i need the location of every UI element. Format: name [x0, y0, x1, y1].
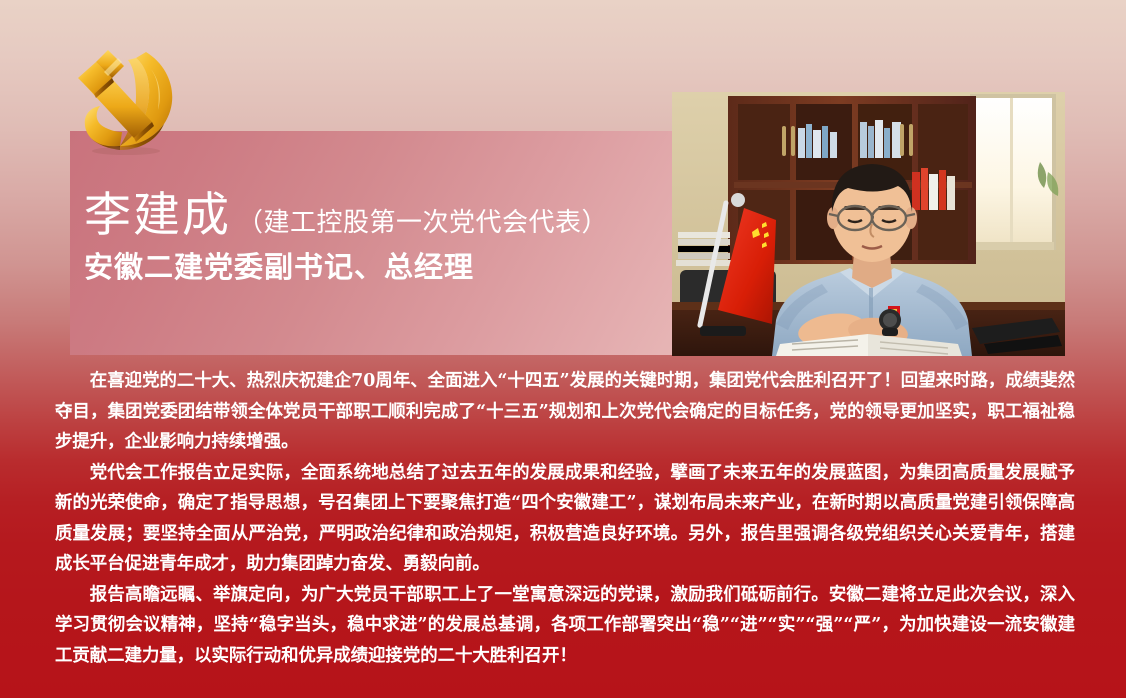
article-paragraph-2: 党代会工作报告立足实际，全面系统地总结了过去五年的发展成果和经验，擘画了未来五年…: [55, 458, 1075, 580]
article-paragraph-1: 在喜迎党的二十大、热烈庆祝建企70周年、全面进入“十四五”发展的关键时期，集团党…: [55, 366, 1075, 458]
poster-root: 李建成（建工控股第一次党代会代表） 安徽二建党委副书记、总经理: [0, 0, 1126, 698]
representative-name: 李建成: [84, 188, 231, 243]
article-paragraph-3: 报告高瞻远瞩、举旗定向，为广大党员干部职工上了一堂寓意深远的党课，激励我们砥砺前…: [55, 580, 1075, 672]
representative-credential: （建工控股第一次党代会代表）: [231, 208, 608, 238]
cpc-hammer-sickle-emblem-icon: [60, 38, 188, 156]
representative-photo: [672, 92, 1065, 356]
article-body: 在喜迎党的二十大、热烈庆祝建企70周年、全面进入“十四五”发展的关键时期，集团党…: [55, 366, 1075, 671]
